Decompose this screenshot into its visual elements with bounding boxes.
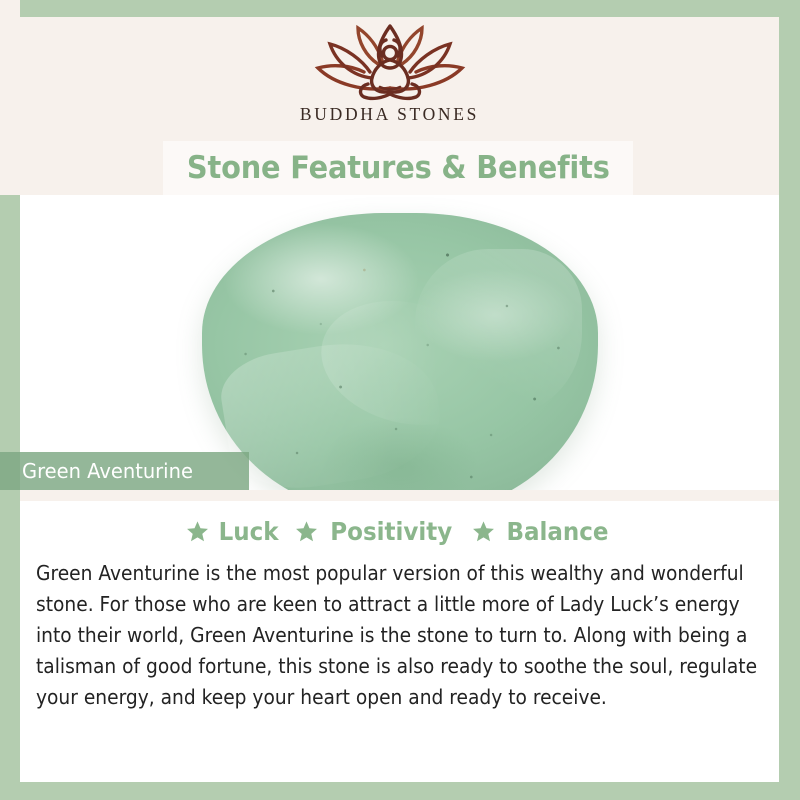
- green-aventurine-stone-image: [202, 213, 598, 490]
- title-banner: Stone Features & Benefits: [163, 141, 633, 195]
- stone-description: Green Aventurine is the most popular ver…: [36, 558, 776, 713]
- benefit-label: Positivity: [331, 517, 453, 546]
- benefit-label: Balance: [506, 517, 608, 546]
- product-photo: [20, 195, 779, 490]
- stone-name-band: Green Aventurine: [0, 452, 249, 490]
- poster: BUDDHA STONES Stone Features & Benefits …: [0, 0, 800, 800]
- lotus-meditation-figure-icon: [304, 20, 476, 102]
- content-section: Luck Positivity Balance Green Aventurine…: [20, 501, 779, 782]
- star-icon: [186, 520, 209, 543]
- stone-name-label: Green Aventurine: [22, 459, 193, 483]
- benefit-label: Luck: [219, 517, 279, 546]
- benefits-list: Luck Positivity Balance: [20, 501, 779, 546]
- benefit-item-positivity: Positivity: [295, 517, 458, 546]
- benefit-item-luck: Luck: [186, 517, 281, 546]
- benefit-item-balance: Balance: [472, 517, 613, 546]
- star-icon: [472, 520, 495, 543]
- page-title: Stone Features & Benefits: [187, 150, 610, 186]
- section-separator: [20, 490, 779, 501]
- brand-logo: BUDDHA STONES: [0, 20, 779, 138]
- stone-texture: [202, 213, 598, 490]
- star-icon: [295, 520, 318, 543]
- brand-name: BUDDHA STONES: [300, 104, 479, 125]
